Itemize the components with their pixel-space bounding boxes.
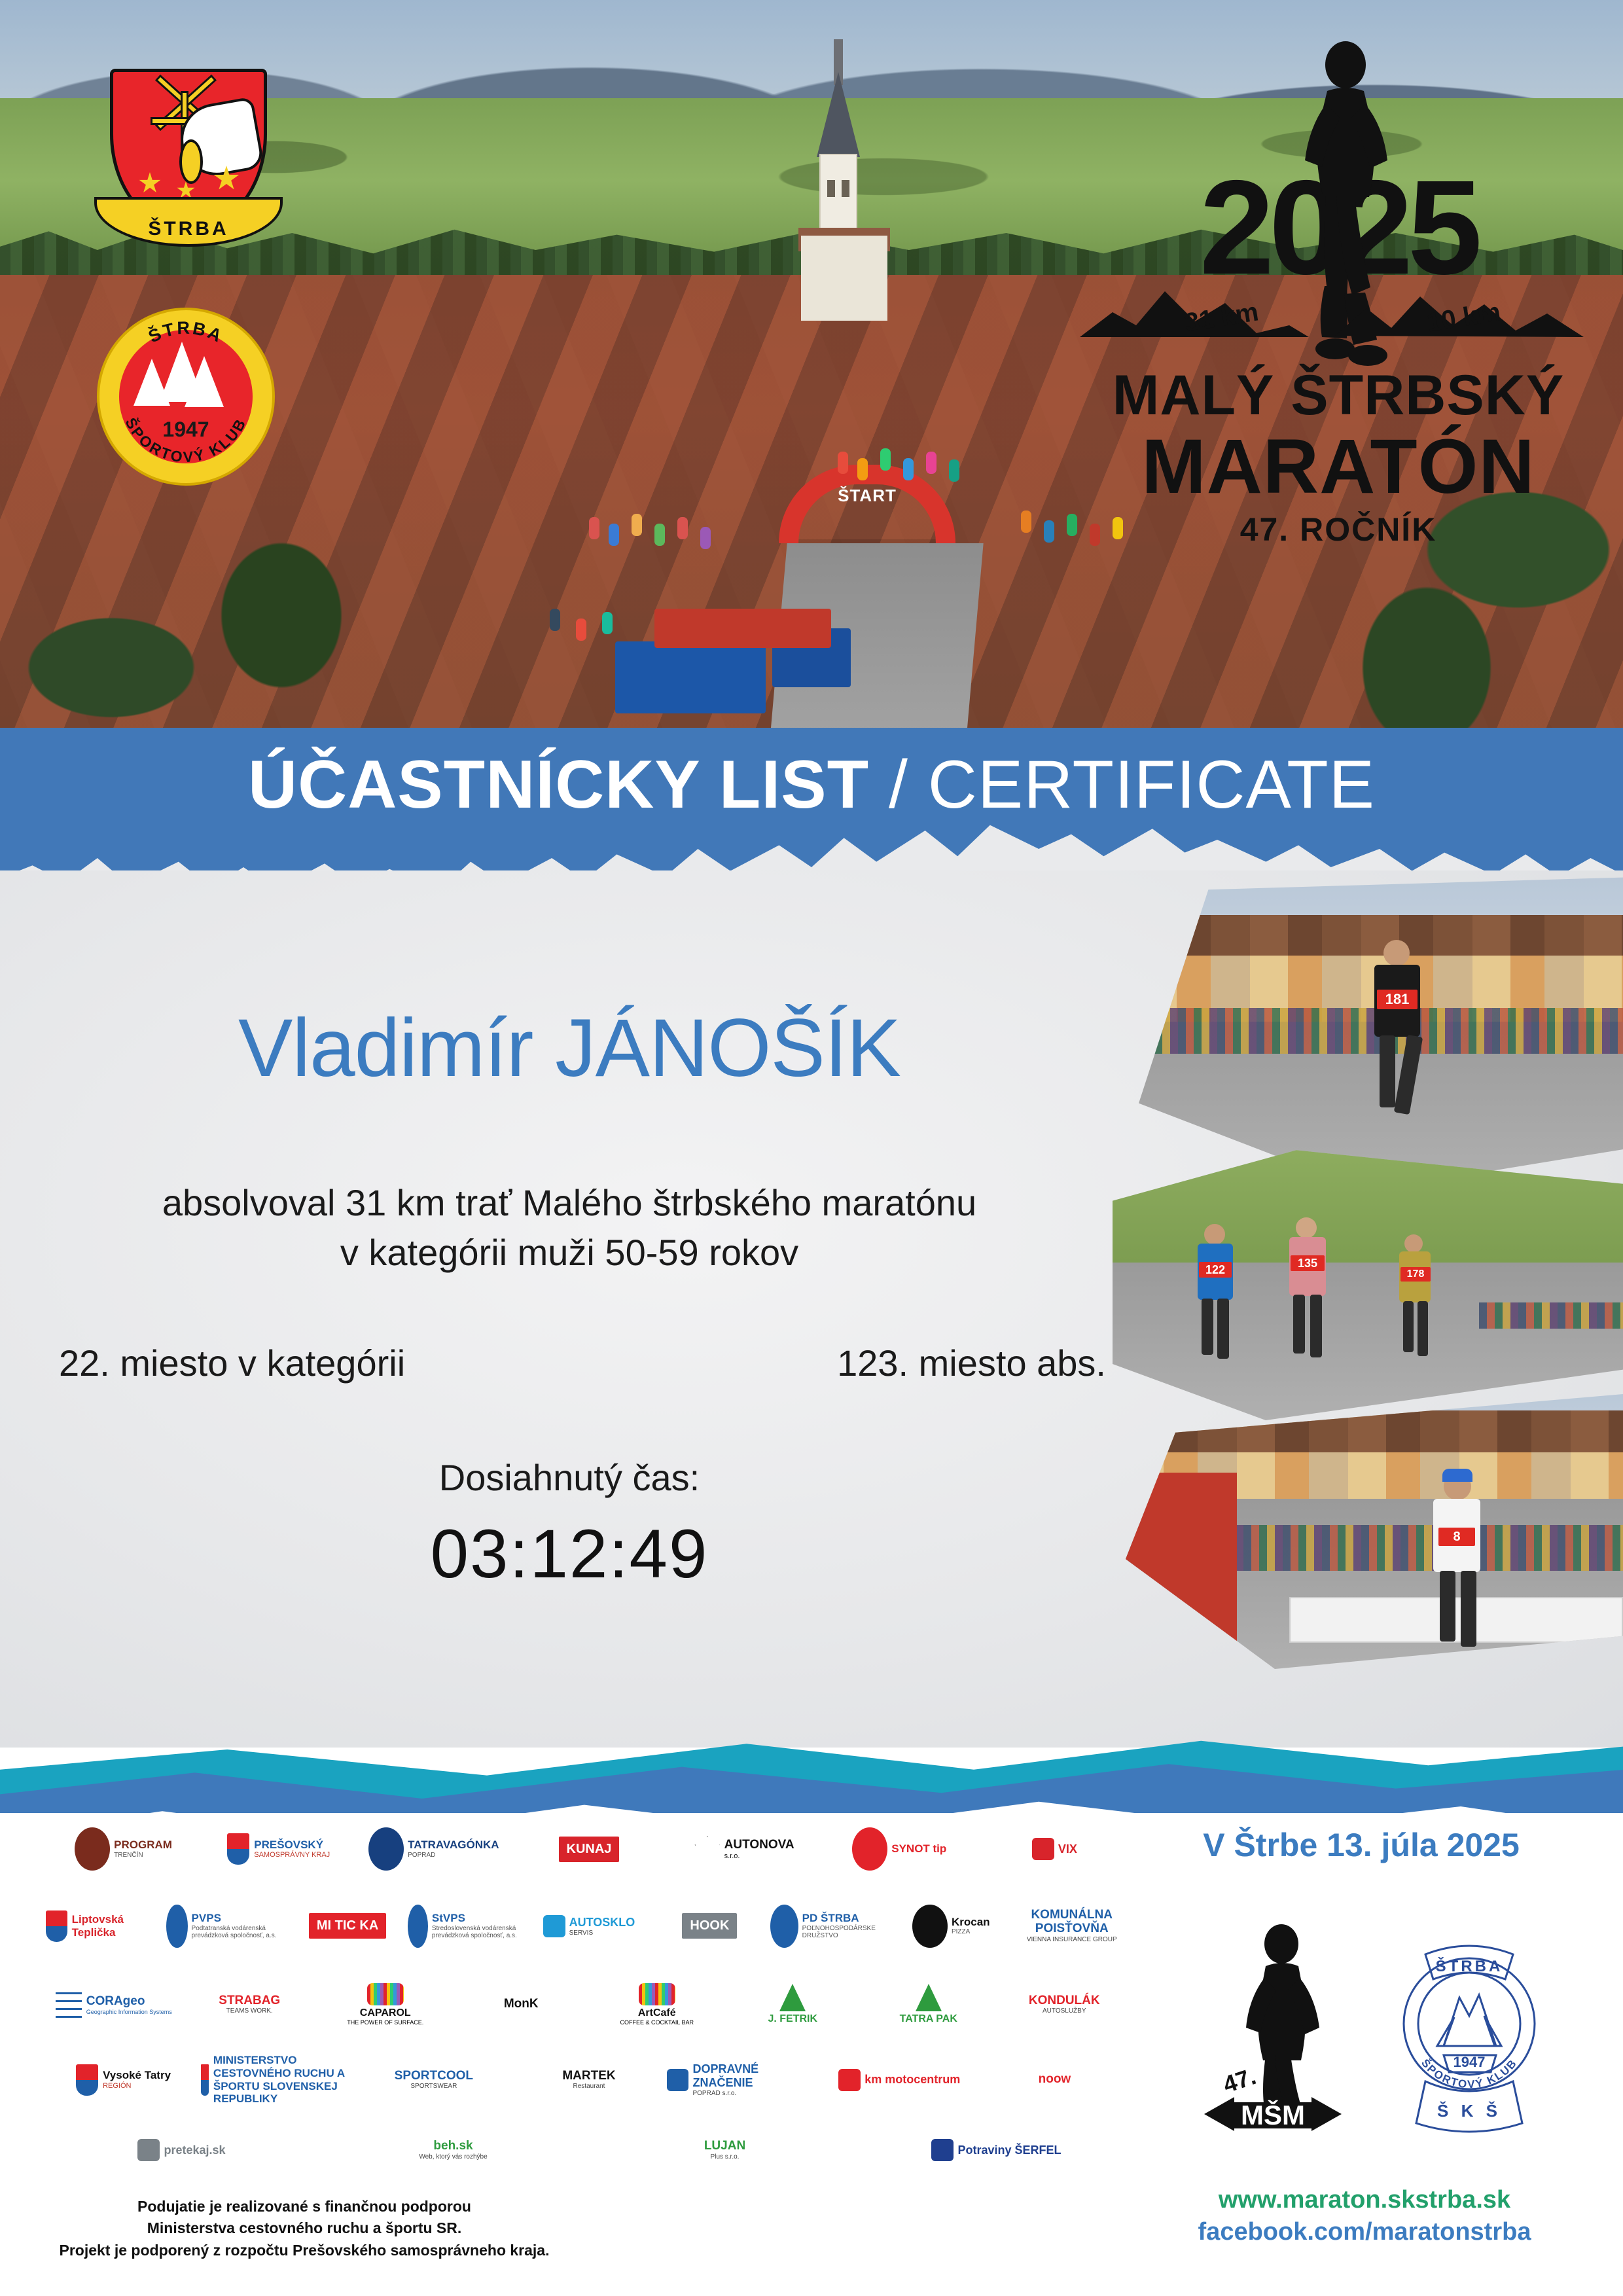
photo-bib-number: 135 <box>1291 1255 1325 1271</box>
finish-time: 03:12:49 <box>39 1515 1099 1594</box>
disclaimer-line-3: Projekt je podporený z rozpočtu Prešovsk… <box>39 2240 569 2261</box>
photo-collage: 181 122 135 178 <box>1113 877 1623 1734</box>
sponsor-logo-strabag: STRABAGTEAMS WORK. <box>182 1970 318 2039</box>
runner-figure: 122 <box>1185 1224 1243 1368</box>
sponsor-logo-martek: MARTEKRestaurant <box>511 2045 666 2114</box>
sponsor-logo-vix: VIX <box>977 1813 1132 1885</box>
photo-hill-runners: 122 135 178 <box>1113 1139 1623 1420</box>
sks-top-text: ŠTRBA <box>1436 1957 1503 1975</box>
sponsor-logo-tatra-pak: TATRA PAK <box>861 1970 997 2039</box>
sponsor-logo-artcaf: ArtCaféCOFFEE & COCKTAIL BAR <box>589 1970 725 2039</box>
sponsor-logo-krocan: KrocanPIZZA <box>891 1888 1011 1964</box>
mountain-silhouette-icon <box>1073 265 1603 357</box>
sks-year: 1947 <box>1454 2054 1486 2070</box>
runner-figure: 181 <box>1355 940 1433 1136</box>
sponsor-logo-autonova: AUTONOVAs.r.o. <box>667 1813 822 1885</box>
page-title: ÚČASTNÍCKY LIST / CERTIFICATE <box>0 746 1623 824</box>
hero-photo-band: ŠTART ŠTRBA <box>0 0 1623 733</box>
disclaimer-line-2: Ministerstva cestovného ruchu a športu S… <box>39 2217 569 2239</box>
svg-text:ŠTRBA: ŠTRBA <box>145 318 226 347</box>
sponsor-logo-caparol: CAPAROLTHE POWER OF SURFACE. <box>317 1970 454 2039</box>
red-banner <box>1126 1473 1237 1669</box>
sponsor-logo-ministerstvo-cestovn-ho-ruchu-a-portu-slovenskej-republiky: MINISTERSTVO CESTOVNÉHO RUCHU A ŠPORTU S… <box>201 2045 356 2114</box>
sponsor-row-4: Vysoké TatryREGIÓNMINISTERSTVO CESTOVNÉH… <box>46 2045 1132 2114</box>
sponsor-logo-pre-ovsk: PREŠOVSKÝSAMOSPRÁVNY KRAJ <box>201 1813 356 1885</box>
sponsor-logo-kondul-k: KONDULÁKAUTOSLUŽBY <box>997 1970 1133 2039</box>
marathon-logo: 2025 31 km 10 km MALÝ ŠTRBSKÝ MARATÓN 47… <box>1073 29 1603 596</box>
sponsor-row-5: pretekaj.skbeh.skWeb, ktorý vás rozhýbeL… <box>46 2121 1132 2179</box>
disclaimer-line-1: Podujatie je realizované s finančnou pod… <box>39 2196 569 2217</box>
logo-line-3: 47. ROČNÍK <box>1073 511 1603 548</box>
sponsor-logo-km-motocentrum: km motocentrum <box>822 2045 977 2114</box>
sponsor-logo-noow: noow <box>977 2045 1132 2114</box>
runner-figure: 8 <box>1414 1473 1499 1662</box>
crest-name: ŠTRBA <box>148 218 228 244</box>
msm-abbrev: MŠM <box>1241 2099 1305 2130</box>
placements: 22. miesto v kategórii 123. miesto abs. <box>59 1342 1106 1384</box>
sponsor-logo-pretekaj-sk: pretekaj.sk <box>46 2121 317 2179</box>
runner-figure: 135 <box>1276 1217 1335 1368</box>
sponsor-logo-corageo: CORAgeoGeographic Information Systems <box>46 1970 182 2039</box>
blue-tent <box>615 641 766 713</box>
start-arch-label: ŠTART <box>825 486 910 506</box>
sk-strba-club-emblem: 1947 ŠTRBA ŠPORTOVÝ KLUB <box>97 308 275 486</box>
logo-line-2: MARATÓN <box>1073 422 1603 511</box>
achievement-line-2: v kategórii muži 50-59 rokov <box>39 1228 1099 1278</box>
photo-bib-number: 8 <box>1438 1528 1475 1546</box>
sponsor-logo-dopravn-zna-enie: DOPRAVNÉ ZNAČENIEPOPRAD s.r.o. <box>667 2045 822 2114</box>
funding-disclaimer: Podujatie je realizované s finančnou pod… <box>39 2196 569 2261</box>
title-slovak: ÚČASTNÍCKY LIST <box>248 747 869 823</box>
event-date: V Štrbe 13. júla 2025 <box>1145 1826 1577 1864</box>
svg-text:ŠPORTOVÝ KLUB: ŠPORTOVÝ KLUB <box>122 415 249 466</box>
church-building <box>798 39 890 314</box>
sks-abbrev: Š K Š <box>1437 2101 1501 2121</box>
sponsor-logo-synot-tip: SYNOT tip <box>822 1813 977 1885</box>
photo-finish-banner: 8 <box>1126 1394 1623 1669</box>
runner-figure: 178 <box>1387 1234 1440 1365</box>
runner-headband <box>1442 1469 1472 1482</box>
sponsor-logo-lujan: LUJANPlus s.r.o. <box>589 2121 861 2179</box>
sponsor-logo-monk: MonK <box>454 1970 590 2039</box>
sponsor-logo-pd-trba: PD ŠTRBAPOĽNOHOSPODÁRSKE DRUŽSTVO <box>770 1888 891 1964</box>
photo-bib-number: 181 <box>1377 990 1418 1009</box>
sponsor-logo-j-fetrik: J. FETRIK <box>725 1970 861 2039</box>
sponsor-logo-vysok-tatry: Vysoké TatryREGIÓN <box>46 2045 201 2114</box>
sponsor-grid: PROGRAMTRENČÍNPREŠOVSKÝSAMOSPRÁVNY KRAJT… <box>46 1813 1132 2179</box>
place-in-category: 22. miesto v kategórii <box>59 1342 405 1384</box>
achievement-text: absolvoval 31 km trať Malého štrbského m… <box>39 1178 1099 1277</box>
sponsor-logo-hook: HOOK <box>649 1888 770 1964</box>
sponsor-row-3: CORAgeoGeographic Information SystemsSTR… <box>46 1970 1132 2039</box>
photo-bib-number: 122 <box>1199 1262 1232 1278</box>
sponsor-row-2: Liptovská TepličkaPVPSPodtatranská vodár… <box>46 1888 1132 1964</box>
sks-seal-badge: ŠTRBA 1947 Š K Š ŠPORTOVÝ KLUB <box>1381 1918 1558 2134</box>
crest-ribbon: ŠTRBA <box>94 197 283 247</box>
sponsor-logo-autosklo: AUTOSKLOSERVIS <box>529 1888 649 1964</box>
sponsor-logo-pvps: PVPSPodtatranská vodárenská prevádzková … <box>166 1888 287 1964</box>
achievement-line-1: absolvoval 31 km trať Malého štrbského m… <box>39 1178 1099 1228</box>
photo-bib-number: 178 <box>1400 1267 1431 1282</box>
sponsor-logo-stvps: StVPSStredoslovenská vodárenská prevádzk… <box>408 1888 528 1964</box>
photo-finisher: 181 <box>1139 877 1623 1191</box>
sponsor-logo-potraviny-erfel: Potraviny ŠERFEL <box>861 2121 1132 2179</box>
contact-links: www.maraton.skstrba.sk facebook.com/mara… <box>1139 2186 1590 2246</box>
msm-badge: 47. MŠM <box>1198 1918 1348 2134</box>
website-link[interactable]: www.maraton.skstrba.sk <box>1139 2186 1590 2214</box>
sponsor-logo-beh-sk: beh.skWeb, ktorý vás rozhýbe <box>317 2121 589 2179</box>
sponsor-logo-tatravag-nka: TATRAVAGÓNKAPOPRAD <box>356 1813 511 1885</box>
start-arch-zone: ŠTART <box>740 458 1001 609</box>
msm-number: 47. <box>1220 2062 1259 2098</box>
sponsor-logo-komun-lna-pois-ov-a: KOMUNÁLNA POISŤOVŇAVIENNA INSURANCE GROU… <box>1012 1888 1132 1964</box>
club-emblem-text: ŠTRBA ŠPORTOVÝ KLUB <box>97 308 275 486</box>
sponsor-logo-sportcool: SPORTCOOLSPORTSWEAR <box>356 2045 511 2114</box>
runner-name: Vladimír JÁNOŠÍK <box>39 1001 1099 1095</box>
logo-line-1: MALÝ ŠTRBSKÝ <box>1073 363 1603 428</box>
title-separator: / <box>869 747 928 823</box>
sponsor-logo-program: PROGRAMTRENČÍN <box>46 1813 201 1885</box>
red-tent <box>654 609 831 648</box>
sponsor-row-1: PROGRAMTRENČÍNPREŠOVSKÝSAMOSPRÁVNY KRAJT… <box>46 1813 1132 1885</box>
title-english: CERTIFICATE <box>928 747 1375 823</box>
strba-coat-of-arms: ŠTRBA <box>110 69 267 265</box>
place-absolute: 123. miesto abs. <box>837 1342 1106 1384</box>
sponsor-logo-liptovsk-tepli-ka: Liptovská Teplička <box>46 1888 166 1964</box>
time-label: Dosiahnutý čas: <box>39 1456 1099 1499</box>
sponsor-logo-mi-tic-ka: MI TIC KA <box>287 1888 408 1964</box>
facebook-link[interactable]: facebook.com/maratonstrba <box>1139 2218 1590 2246</box>
sponsor-logo-kunaj: KUNAJ <box>511 1813 666 1885</box>
